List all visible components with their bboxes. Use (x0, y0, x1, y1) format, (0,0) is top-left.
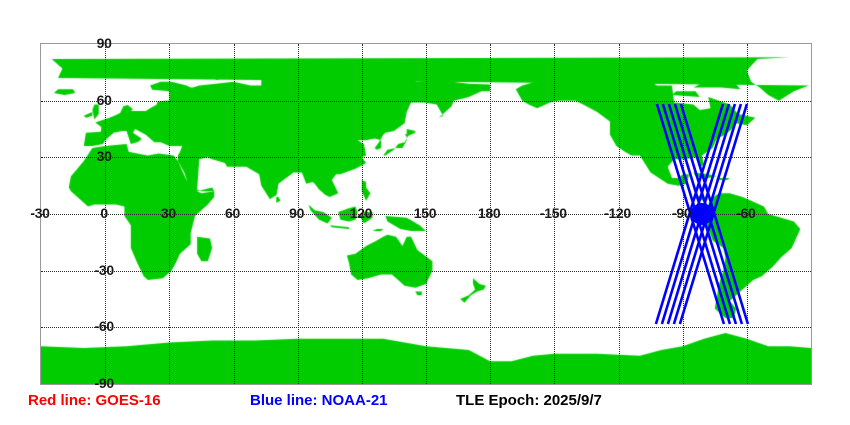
lat-tick-label: -30 (94, 263, 113, 277)
lon-tick-label: 150 (414, 206, 436, 220)
lon-tick-label: 180 (478, 206, 500, 220)
lat-tick-label: 60 (97, 93, 112, 107)
lon-tick-label: 60 (225, 206, 240, 220)
lon-tick-label: 90 (289, 206, 304, 220)
lat-tick-label: 30 (97, 149, 112, 163)
lon-tick-label: -90 (672, 206, 691, 220)
legend-tle-epoch: TLE Epoch: 2025/9/7 (456, 392, 602, 409)
lon-tick-label: -60 (736, 206, 755, 220)
lon-tick-label: 0 (100, 206, 108, 220)
legend-goes16: Red line: GOES-16 (28, 392, 161, 409)
lon-tick-label: -30 (30, 206, 49, 220)
lat-tick-label: -60 (94, 319, 113, 333)
lon-tick-label: 120 (350, 206, 372, 220)
lon-tick-label: -150 (540, 206, 567, 220)
legend: Red line: GOES-16 Blue line: NOAA-21 TLE… (0, 392, 850, 425)
lon-tick-label: 30 (161, 206, 176, 220)
satellite-ground-track-page: -300306090120150180-150-120-90-60906030-… (0, 0, 850, 425)
lon-tick-label: -120 (604, 206, 631, 220)
legend-noaa21: Blue line: NOAA-21 (250, 392, 388, 409)
lat-tick-label: 90 (97, 36, 112, 50)
lat-tick-label: -90 (94, 376, 113, 390)
